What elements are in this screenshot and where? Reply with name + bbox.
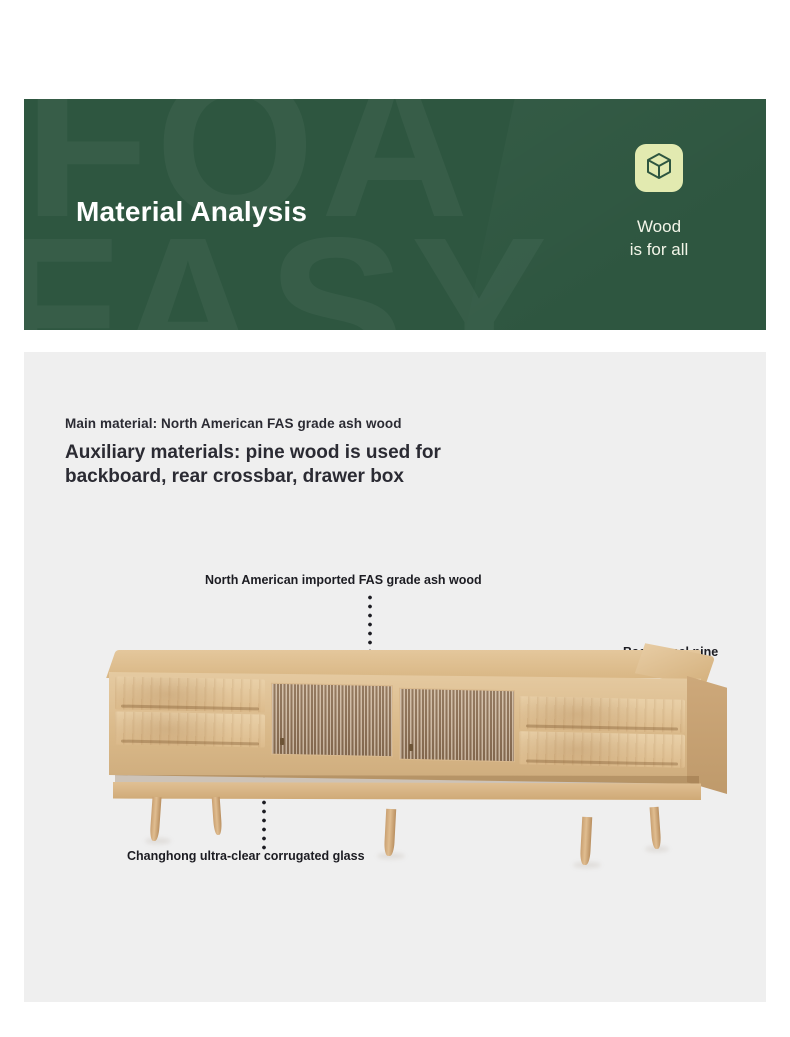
drawer-left-upper	[115, 676, 265, 712]
cabinet-leg	[580, 817, 592, 865]
material-heading-block: Main material: North American FAS grade …	[65, 416, 685, 490]
corrugated-glass-door-left	[271, 683, 393, 758]
cube-icon	[644, 151, 674, 186]
banner-brand-block: Wood is for all	[594, 144, 724, 262]
tagline-line-1: Wood	[594, 216, 724, 239]
page-title: Material Analysis	[76, 196, 307, 228]
drawer-left-lower	[115, 711, 265, 747]
content-panel: Main material: North American FAS grade …	[24, 352, 766, 1002]
annotation-label-ash-wood: North American imported FAS grade ash wo…	[205, 573, 482, 587]
drawer-right-upper	[519, 696, 685, 732]
cabinet-base-rail	[113, 782, 701, 800]
auxiliary-heading-line-2: backboard, rear crossbar, drawer box	[65, 466, 404, 487]
cabinet-leg	[149, 797, 161, 842]
corrugated-glass-door-right	[399, 688, 515, 762]
tagline-line-2: is for all	[594, 239, 724, 262]
cabinet-leg	[384, 809, 396, 856]
auxiliary-heading-line-1: Auxiliary materials: pine wood is used f…	[65, 442, 441, 463]
cabinet-leg	[650, 807, 662, 850]
glass-door-knob-left	[280, 738, 284, 745]
tv-cabinet-illustration	[79, 642, 719, 892]
material-analysis-banner: FOA FASY Material Analysis Wood is for a…	[24, 99, 766, 330]
leg-shadow	[145, 838, 171, 844]
cabinet-leg	[212, 797, 223, 835]
glass-door-knob-right	[409, 744, 413, 751]
auxiliary-material-heading: Auxiliary materials: pine wood is used f…	[65, 441, 685, 490]
cube-badge	[635, 144, 683, 192]
main-material-heading: Main material: North American FAS grade …	[65, 416, 685, 431]
drawer-right-lower	[519, 731, 685, 767]
banner-tagline: Wood is for all	[594, 216, 724, 262]
